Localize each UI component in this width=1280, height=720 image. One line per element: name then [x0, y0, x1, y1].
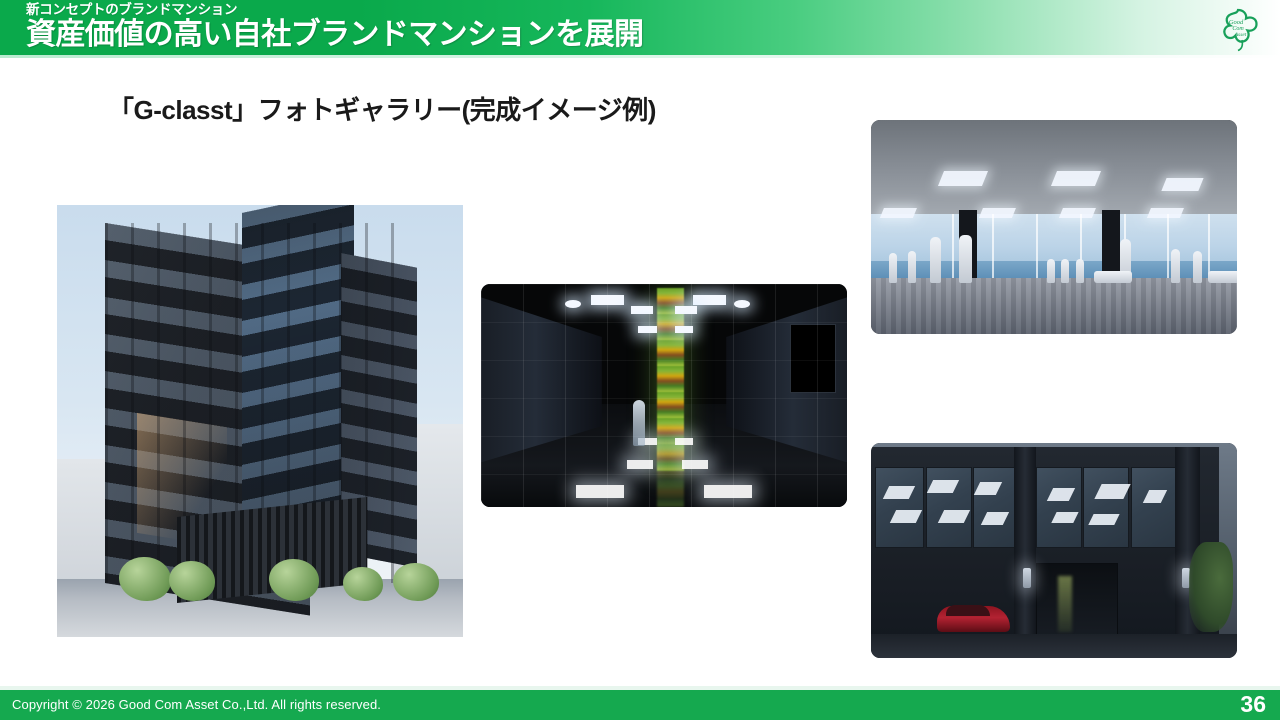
lounge-person-figure: [1061, 259, 1069, 283]
glass-mullion: [992, 214, 994, 278]
lounge-bench: [1208, 271, 1237, 283]
wall-sconce-light: [1023, 568, 1031, 588]
facade-upper-window: [973, 467, 1015, 549]
street-tree: [119, 557, 171, 601]
section-subtitle: 「G-classt」フォトギャラリー(完成イメージ例): [108, 90, 656, 127]
photo-lobby-green-wall: [481, 284, 847, 507]
glass-mullion: [1167, 214, 1169, 278]
lounge-person-figure: [889, 253, 897, 283]
street-tree: [393, 563, 439, 601]
lounge-person-figure: [1171, 249, 1180, 283]
header-kicker: 新コンセプトのブランドマンション: [26, 2, 926, 17]
street-tree: [343, 567, 383, 601]
window-light-reflection: [926, 480, 958, 493]
header-text-group: 新コンセプトのブランドマンション 資産価値の高い自社ブランドマンションを展開: [26, 2, 926, 53]
ceiling-light-panel: [938, 171, 988, 186]
photo-lounge-common-space: [871, 120, 1237, 334]
lounge-person-figure: [930, 237, 941, 283]
ceiling-light-panel: [1051, 171, 1101, 186]
photo-entrance-facade: [871, 443, 1237, 658]
lobby-glass-grid-overlay: [481, 284, 847, 507]
ceiling-light-panel: [1059, 208, 1096, 218]
svg-text:Asset: Asset: [1234, 32, 1247, 38]
glass-mullion: [952, 214, 954, 278]
lounge-bench: [1094, 271, 1132, 283]
glass-mullion: [1036, 214, 1038, 278]
photo-exterior-tower: [57, 205, 463, 637]
facade-upper-window: [926, 467, 972, 549]
facade-upper-window: [1036, 467, 1082, 549]
header-underline: [0, 55, 1280, 58]
ceiling-light-panel: [979, 208, 1016, 218]
facade-tree: [1189, 542, 1233, 632]
glass-mullion: [1208, 214, 1210, 278]
entrance-interior-glow: [1058, 576, 1073, 632]
facade-forecourt-ground: [871, 634, 1237, 658]
facade-entrance-portal: [1036, 563, 1119, 638]
footer-copyright: Copyright © 2026 Good Com Asset Co.,Ltd.…: [12, 697, 381, 712]
parked-car-windshield: [946, 605, 990, 616]
lounge-dark-column: [1102, 210, 1120, 278]
lounge-person-figure: [908, 251, 916, 283]
street-tree: [269, 559, 319, 601]
page-title: 資産価値の高い自社ブランドマンションを展開: [26, 17, 926, 53]
window-light-reflection: [937, 510, 969, 523]
good-com-asset-logo-icon: Good Com Asset: [1212, 4, 1264, 54]
facade-upper-window: [1131, 467, 1177, 549]
lounge-person-figure: [1047, 259, 1055, 283]
street-tree: [169, 561, 215, 601]
lounge-floor-shading: [871, 278, 1237, 334]
ceiling-light-panel: [1147, 208, 1184, 218]
facade-upper-window: [1083, 467, 1129, 549]
ceiling-light-panel: [880, 208, 917, 218]
facade-column: [1014, 447, 1036, 636]
facade-upper-window: [875, 467, 925, 549]
slide-header: 新コンセプトのブランドマンション 資産価値の高い自社ブランドマンションを展開: [0, 0, 1280, 55]
slide-footer: Copyright © 2026 Good Com Asset Co.,Ltd.…: [0, 690, 1280, 720]
page-number: 36: [1240, 691, 1266, 718]
window-light-reflection: [1088, 514, 1119, 525]
svg-text:Good: Good: [1229, 19, 1244, 26]
lounge-person-figure: [1076, 259, 1084, 283]
svg-text:Com: Com: [1232, 26, 1244, 32]
lounge-person-figure: [959, 235, 972, 283]
ceiling-light-panel: [1161, 178, 1203, 191]
lounge-person-figure: [1193, 251, 1202, 283]
